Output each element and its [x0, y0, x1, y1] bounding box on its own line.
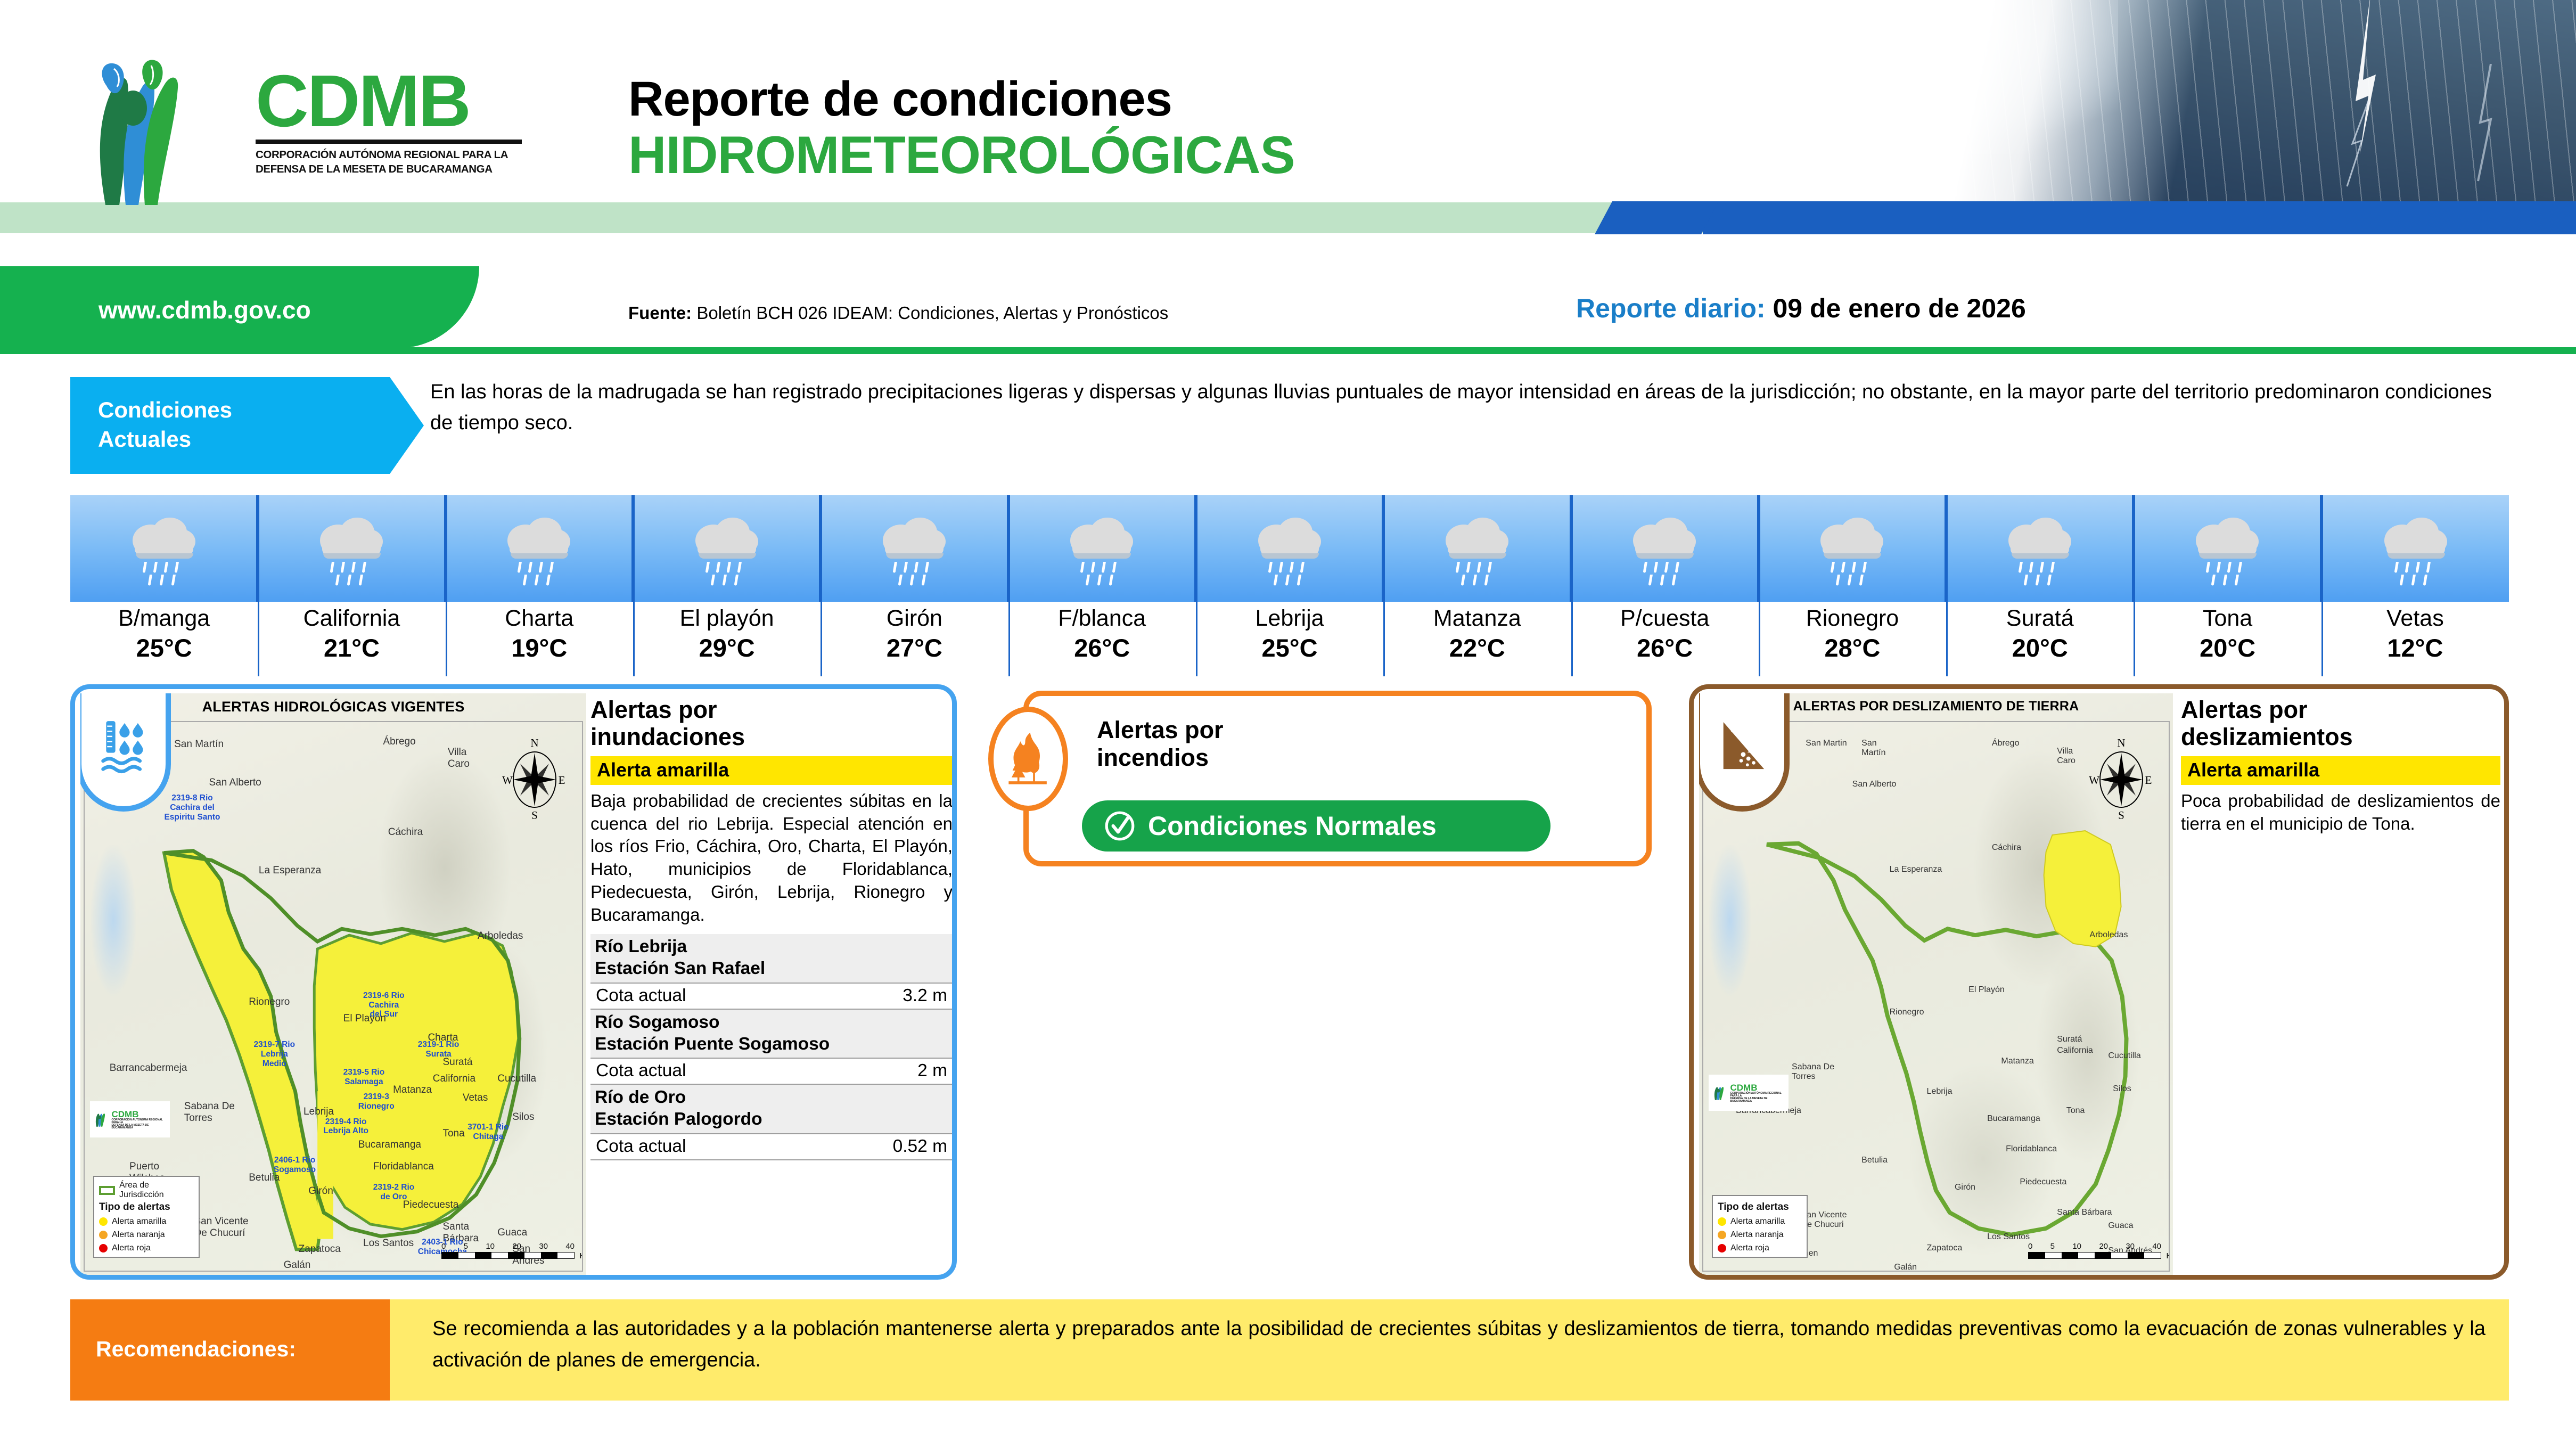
recommendations-label: Recomendaciones:: [96, 1337, 296, 1362]
landslide-title-line1: Alertas por: [2181, 697, 2500, 724]
weather-sky: [821, 495, 1008, 602]
current-conditions-tag: Condiciones Actuales: [70, 377, 390, 474]
logo-acronym: CDMB: [256, 67, 607, 136]
city-temperature: 12°C: [2321, 633, 2509, 663]
report-date: Reporte diario: 09 de enero de 2026: [1576, 293, 2026, 324]
city-name: Charta: [446, 605, 633, 632]
weather-cell: Rionegro28°C: [1759, 495, 1946, 676]
station-header: Río LebrijaEstación San Rafael: [590, 934, 953, 983]
flood-title-line2: inundaciones: [590, 724, 953, 751]
conditions-tag-line1: Condiciones: [98, 395, 232, 424]
page-header: CDMB CORPORACIÓN AUTÓNOMA REGIONAL PARA …: [0, 0, 2576, 266]
weather-cell: California21°C: [258, 495, 445, 676]
city-name: Tona: [2134, 605, 2321, 632]
jurisdiction-swatch: [99, 1186, 115, 1195]
legend-item-orange: Alerta naranja: [1730, 1230, 1784, 1240]
weather-sky: [2321, 495, 2509, 602]
landslide-icon-badge: [1699, 693, 1790, 812]
conditions-tag-line2: Actuales: [98, 424, 232, 454]
current-conditions-body: En las horas de la madrugada se han regi…: [430, 377, 2509, 474]
landslide-map-scalebar: 0510203040 Km: [2028, 1242, 2161, 1259]
city-name: P/cuesta: [1571, 605, 1759, 632]
weather-sky: [1196, 495, 1383, 602]
city-name: El playón: [633, 605, 821, 632]
weather-sky: [1946, 495, 2134, 602]
rain-cloud-icon: [682, 509, 771, 588]
compass-rose-icon: N S E W: [2087, 736, 2156, 821]
flood-alerts-text: Alertas por inundaciones Alerta amarilla…: [590, 697, 953, 1277]
legend-title: Tipo de alertas: [99, 1201, 194, 1213]
scalebar-unit: Km: [2167, 1251, 2170, 1260]
flood-map-frame: San Martín Ábrego VillaCaro San Alberto …: [84, 721, 583, 1272]
title-line-1: Reporte de condiciones: [628, 75, 1295, 124]
measure-label: Cota actual: [596, 1136, 686, 1157]
flood-description: Baja probabilidad de crecientes súbitas …: [590, 790, 953, 927]
city-name: California: [258, 605, 445, 632]
flood-alert-badge: Alerta amarilla: [590, 756, 953, 785]
weather-sky: [1571, 495, 1759, 602]
river-stations-table: Río LebrijaEstación San RafaelCota actua…: [590, 934, 953, 1160]
weather-sky: [2134, 495, 2321, 602]
city-temperature: 22°C: [1383, 633, 1571, 663]
weather-cell: B/manga25°C: [70, 495, 258, 676]
rain-cloud-icon: [1244, 509, 1334, 588]
current-conditions-section: Condiciones Actuales En las horas de la …: [70, 377, 2509, 474]
city-name: Lebrija: [1196, 605, 1383, 632]
cdmb-logo-mark-icon: [75, 51, 250, 205]
recommendations-section: Recomendaciones: Se recomienda a las aut…: [70, 1299, 2509, 1401]
city-name: Rionegro: [1759, 605, 1946, 632]
city-name: B/manga: [70, 605, 258, 632]
map-cdmb-logo: CDMB CORPORACIÓN AUTÓNOMA REGIONAL PARA …: [1709, 1075, 1789, 1111]
landslide-map-legend: Tipo de alertas Alerta amarilla Alerta n…: [1712, 1195, 1808, 1258]
measure-value: 2 m: [917, 1061, 947, 1081]
legend-jurisdiction-label: Área de Jurisdicción: [119, 1181, 194, 1200]
website-url[interactable]: www.cdmb.gov.co: [99, 296, 311, 324]
landslide-icon: [1716, 719, 1768, 776]
river-name: Río Lebrija: [595, 936, 948, 958]
info-bar-rule: [0, 347, 2576, 354]
city-name: F/blanca: [1008, 605, 1196, 632]
weather-cell: Girón27°C: [821, 495, 1008, 676]
svg-text:W: W: [2089, 774, 2099, 787]
city-temperature: 19°C: [446, 633, 633, 663]
landslide-title-line2: deslizamientos: [2181, 724, 2500, 751]
current-conditions-text: En las horas de la madrugada se han regi…: [430, 377, 2509, 439]
rain-cloud-icon: [2182, 509, 2271, 588]
recommendations-body: Se recomienda a las autoridades y a la p…: [390, 1299, 2509, 1401]
fire-icon-badge: [988, 707, 1068, 811]
info-bar: www.cdmb.gov.co Fuente: Boletín BCH 026 …: [0, 266, 2576, 355]
city-temperature: 20°C: [2134, 633, 2321, 663]
station-measure-row: Cota actual2 m: [590, 1058, 953, 1085]
weather-sky: [1383, 495, 1571, 602]
measure-value: 3.2 m: [903, 986, 947, 1006]
compass-rose-icon: N S E W: [500, 736, 569, 821]
legend-title: Tipo de alertas: [1718, 1201, 1802, 1213]
city-temperature: 28°C: [1759, 633, 1946, 663]
rain-cloud-icon: [119, 509, 208, 588]
weather-sky: [70, 495, 258, 602]
rain-cloud-icon: [1432, 509, 1521, 588]
report-date-value: 09 de enero de 2026: [1773, 293, 2026, 323]
check-circle-icon: [1103, 809, 1136, 842]
weather-cell: Vetas12°C: [2321, 495, 2509, 676]
cdmb-logo: CDMB CORPORACIÓN AUTÓNOMA REGIONAL PARA …: [75, 51, 612, 205]
flood-alerts-panel: ALERTAS HIDROLÓGICAS VIGENTES San Martín…: [70, 684, 957, 1280]
landslide-alerts-panel: ALERTAS POR DESLIZAMIENTO DE TIERRA San …: [1689, 684, 2509, 1280]
landslide-alerts-text: Alertas por deslizamientos Alerta amaril…: [2181, 697, 2500, 835]
station-measure-row: Cota actual3.2 m: [590, 983, 953, 1010]
river-name: Río de Oro: [595, 1087, 948, 1109]
fire-status-pill: Condiciones Normales: [1082, 800, 1550, 852]
fire-alerts-panel: Alertas por incendios Condiciones Normal…: [1023, 691, 1652, 866]
page-title: Reporte de condiciones HIDROMETEOROLÓGIC…: [628, 75, 1295, 181]
rain-cloud-icon: [494, 509, 583, 588]
legend-item-yellow: Alerta amarilla: [1730, 1217, 1785, 1226]
title-line-2: HIDROMETEOROLÓGICAS: [628, 128, 1295, 181]
city-name: Matanza: [1383, 605, 1571, 632]
city-temperature: 21°C: [258, 633, 445, 663]
city-temperature: 29°C: [633, 633, 821, 663]
water-level-gauge-icon: [98, 717, 149, 779]
rain-cloud-icon: [2370, 509, 2460, 588]
fire-status-text: Condiciones Normales: [1148, 811, 1437, 841]
cdmb-mark-small-icon: [1712, 1084, 1728, 1102]
weather-sky: [446, 495, 633, 602]
fire-forest-icon: [1004, 730, 1053, 788]
city-temperature: 25°C: [1196, 633, 1383, 663]
measure-label: Cota actual: [596, 1061, 686, 1081]
weather-sky: [1008, 495, 1196, 602]
rain-cloud-icon: [1619, 509, 1709, 588]
city-name: Girón: [821, 605, 1008, 632]
svg-text:N: N: [530, 736, 538, 749]
weather-sky: [1759, 495, 1946, 602]
rain-cloud-icon: [306, 509, 396, 588]
station-name: Estación Puente Sogamoso: [595, 1034, 948, 1055]
svg-text:S: S: [531, 809, 538, 821]
station-measure-row: Cota actual0.52 m: [590, 1133, 953, 1160]
weather-cell: Charta19°C: [446, 495, 633, 676]
city-name: Suratá: [1946, 605, 2134, 632]
map-cdmb-logo: CDMB CORPORACIÓN AUTÓNOMA REGIONAL PARA …: [90, 1101, 170, 1137]
fire-title-line1: Alertas por: [1097, 716, 1224, 744]
landslide-map-frame: San Martin SanMartín Ábrego VillaCaro Sa…: [1702, 721, 2170, 1272]
weather-forecast-strip: B/manga25°C California21°C Charta19°C: [70, 495, 2509, 676]
header-green-band: [0, 202, 1837, 233]
rain-cloud-icon: [1056, 509, 1146, 588]
alerts-panels-row: ALERTAS HIDROLÓGICAS VIGENTES San Martín…: [70, 684, 2509, 1283]
svg-text:S: S: [2118, 809, 2124, 821]
legend-item-red: Alerta roja: [112, 1243, 151, 1253]
rain-cloud-icon: [1995, 509, 2084, 588]
weather-sky: [258, 495, 445, 602]
weather-cell: P/cuesta26°C: [1571, 495, 1759, 676]
svg-text:E: E: [2145, 774, 2152, 787]
source-text: Fuente: Boletín BCH 026 IDEAM: Condicion…: [628, 303, 1168, 323]
recommendations-text: Se recomienda a las autoridades y a la p…: [432, 1313, 2485, 1376]
svg-text:W: W: [502, 774, 513, 787]
city-temperature: 26°C: [1571, 633, 1759, 663]
header-blue-band: [1703, 201, 2576, 234]
hydrological-alerts-map[interactable]: ALERTAS HIDROLÓGICAS VIGENTES San Martín…: [80, 693, 586, 1275]
station-name: Estación Palogordo: [595, 1109, 948, 1131]
report-date-label: Reporte diario:: [1576, 293, 1766, 323]
rain-cloud-icon: [1807, 509, 1896, 588]
city-temperature: 26°C: [1008, 633, 1196, 663]
legend-item-orange: Alerta naranja: [112, 1230, 165, 1240]
recommendations-tag: Recomendaciones:: [70, 1299, 395, 1401]
source-value: Boletín BCH 026 IDEAM: Condiciones, Aler…: [696, 303, 1168, 323]
legend-item-red: Alerta roja: [1730, 1243, 1769, 1253]
flood-map-legend: Área de Jurisdicción Tipo de alertas Ale…: [93, 1176, 200, 1258]
city-name: Vetas: [2321, 605, 2509, 632]
weather-cell: Tona20°C: [2134, 495, 2321, 676]
fire-title-line2: incendios: [1097, 744, 1224, 772]
station-header: Río SogamosoEstación Puente Sogamoso: [590, 1010, 953, 1058]
weather-cell: Lebrija25°C: [1196, 495, 1383, 676]
svg-text:N: N: [2117, 736, 2125, 749]
weather-cell: El playón29°C: [633, 495, 821, 676]
landslide-alerts-map[interactable]: ALERTAS POR DESLIZAMIENTO DE TIERRA San …: [1699, 693, 2173, 1275]
measure-label: Cota actual: [596, 986, 686, 1006]
flood-icon-badge: [80, 693, 171, 812]
landslide-description: Poca probabilidad de deslizamientos de t…: [2181, 790, 2500, 836]
cdmb-mark-small-icon: [93, 1110, 109, 1128]
svg-text:E: E: [559, 774, 565, 787]
station-name: Estación San Rafael: [595, 958, 948, 980]
landslide-alert-badge: Alerta amarilla: [2181, 756, 2500, 785]
flood-title-line1: Alertas por: [590, 697, 953, 724]
scalebar-unit: Km: [580, 1251, 584, 1260]
river-name: Río Sogamoso: [595, 1012, 948, 1034]
station-header: Río de OroEstación Palogordo: [590, 1085, 953, 1133]
measure-value: 0.52 m: [893, 1136, 947, 1157]
logo-subtitle-line2: DEFENSA DE LA MESETA DE BUCARAMANGA: [256, 162, 607, 176]
logo-subtitle-line1: CORPORACIÓN AUTÓNOMA REGIONAL PARA LA: [256, 148, 607, 162]
weather-sky: [633, 495, 821, 602]
flood-map-scalebar: 0510203040 Km: [441, 1242, 575, 1259]
rain-cloud-icon: [869, 509, 958, 588]
source-label: Fuente:: [628, 303, 692, 323]
city-temperature: 27°C: [821, 633, 1008, 663]
weather-cell: Suratá20°C: [1946, 495, 2134, 676]
city-temperature: 25°C: [70, 633, 258, 663]
weather-cell: F/blanca26°C: [1008, 495, 1196, 676]
legend-item-yellow: Alerta amarilla: [112, 1217, 166, 1226]
header-white-swoosh: [1639, 0, 2576, 234]
weather-cell: Matanza22°C: [1383, 495, 1571, 676]
city-temperature: 20°C: [1946, 633, 2134, 663]
